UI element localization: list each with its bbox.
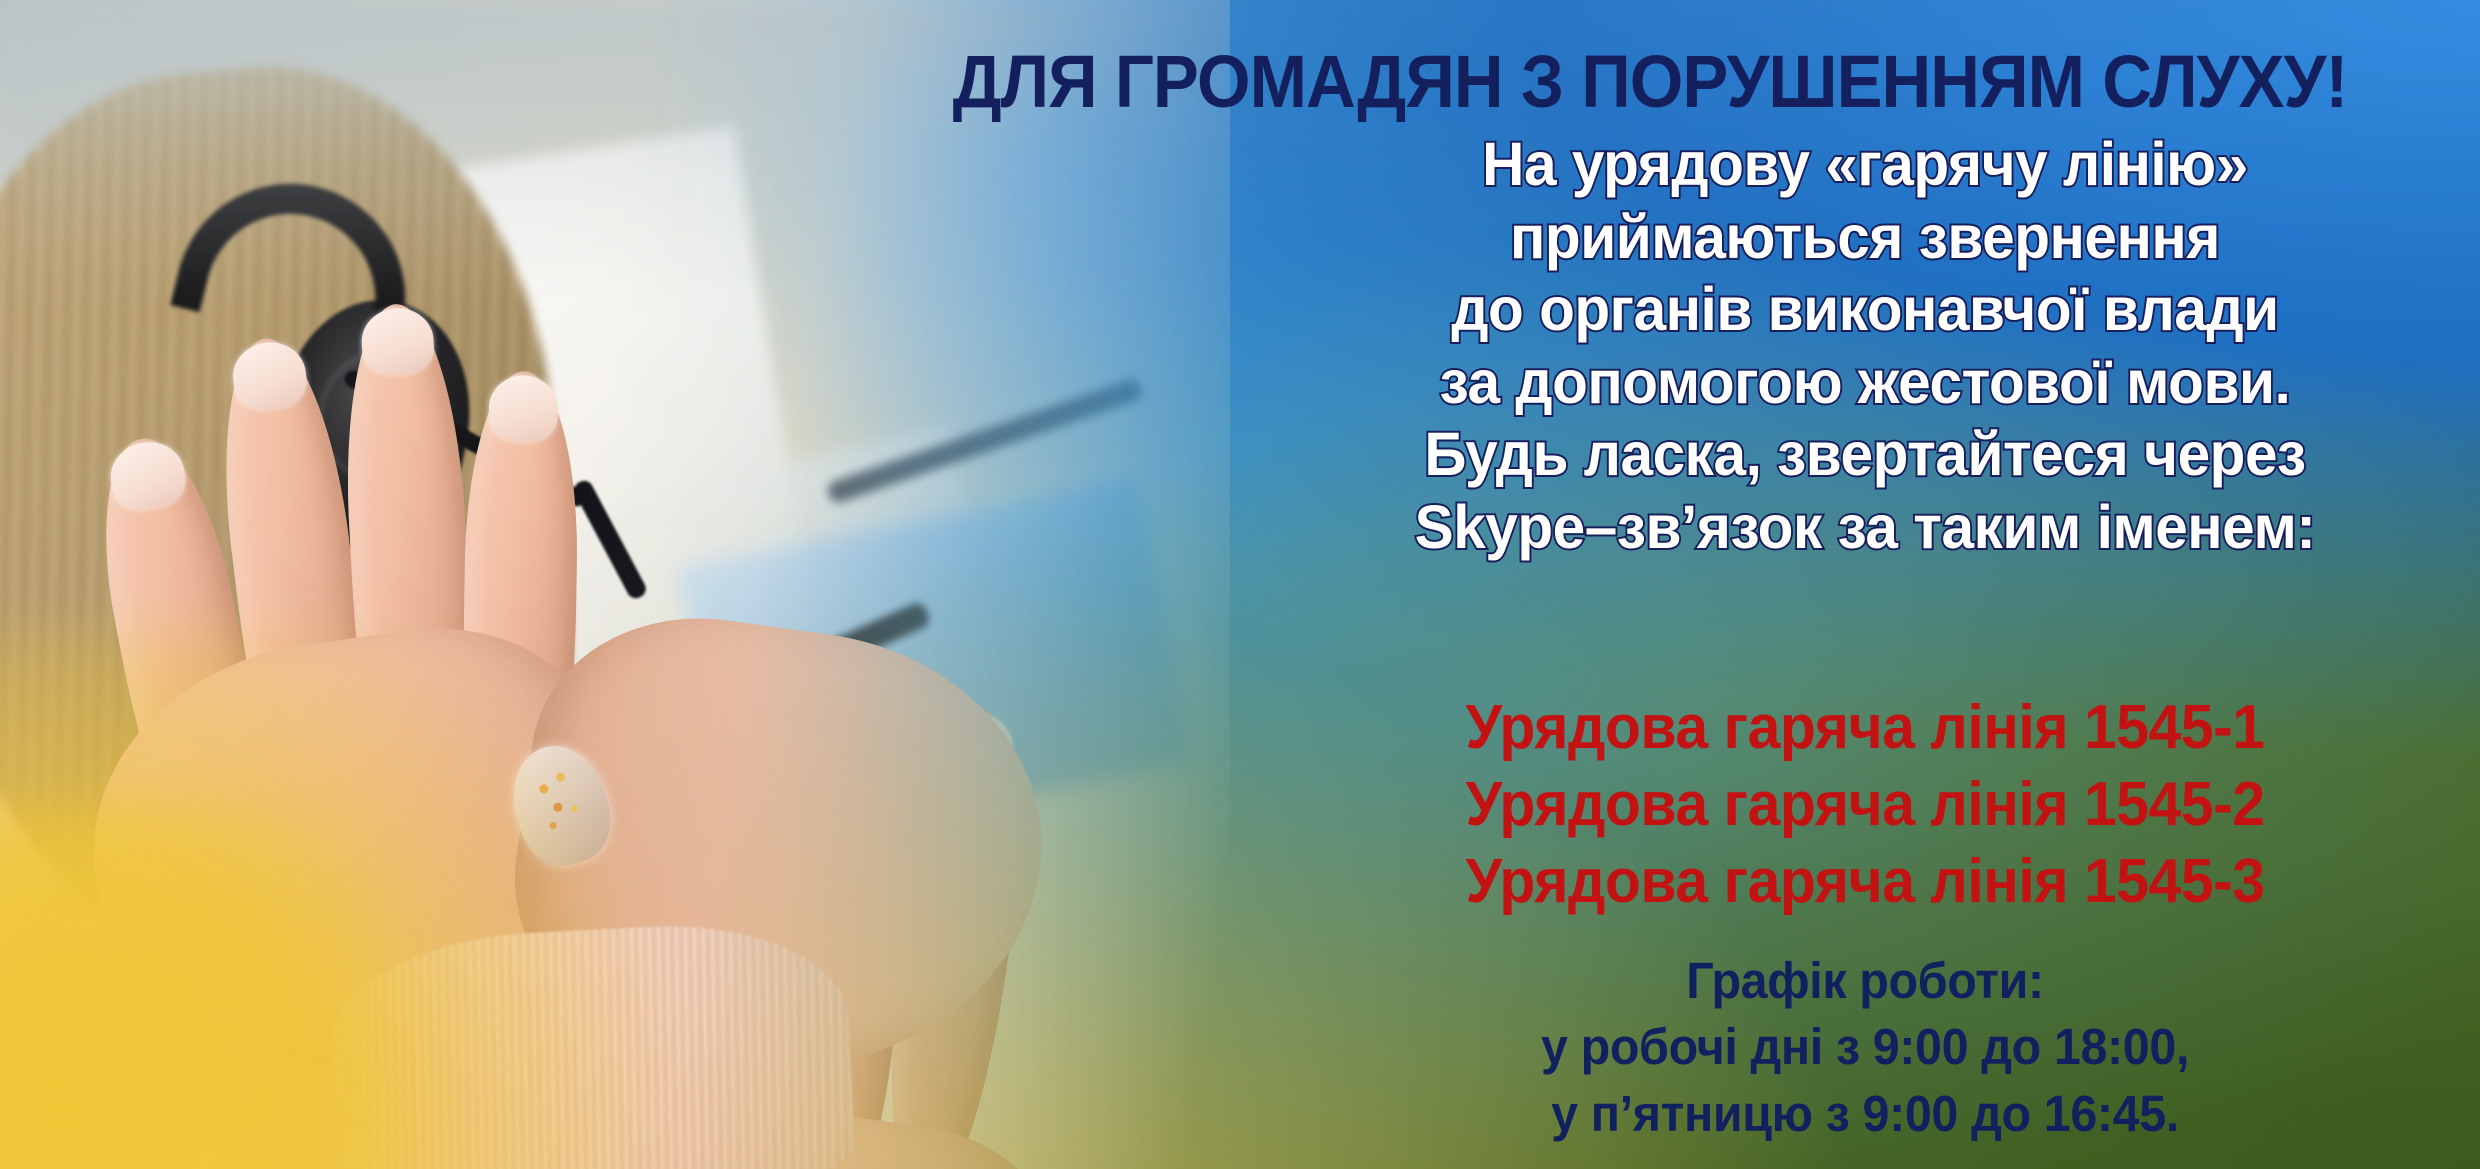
skype-contact-1[interactable]: Урядова гаряча лінія 1545-1: [1281, 690, 2450, 767]
working-hours-title: Графік роботи:: [1281, 948, 2450, 1014]
skype-contact-3[interactable]: Урядова гаряча лінія 1545-3: [1281, 844, 2450, 921]
skype-contact-2[interactable]: Урядова гаряча лінія 1545-2: [1281, 767, 2450, 844]
page-title: ДЛЯ ГРОМАДЯН З ПОРУШЕННЯМ СЛУХУ!: [878, 44, 2422, 119]
description-line: На урядову «гарячу лінію»: [1275, 128, 2456, 201]
working-hours-weekdays: у робочі дні з 9:00 до 18:00,: [1281, 1014, 2450, 1080]
text-layer: ДЛЯ ГРОМАДЯН З ПОРУШЕННЯМ СЛУХУ! На уряд…: [0, 0, 2480, 1169]
description-block: На урядову «гарячу лінію» приймаються зв…: [1250, 128, 2480, 563]
description-line: за допомогою жестової мови.: [1275, 346, 2456, 419]
description-line: до органів виконавчої влади: [1275, 273, 2456, 346]
working-hours-friday: у п’ятницю з 9:00 до 16:45.: [1281, 1081, 2450, 1147]
working-hours-block: Графік роботи: у робочі дні з 9:00 до 18…: [1250, 948, 2480, 1147]
description-line: приймаються звернення: [1275, 201, 2456, 274]
skype-contacts-block: Урядова гаряча лінія 1545-1 Урядова гаря…: [1250, 690, 2480, 921]
description-line: Skype–зв’язок за таким іменем:: [1275, 491, 2456, 564]
description-line: Будь ласка, звертайтеся через: [1275, 418, 2456, 491]
accessibility-hotline-banner: ДЛЯ ГРОМАДЯН З ПОРУШЕННЯМ СЛУХУ! На уряд…: [0, 0, 2480, 1169]
